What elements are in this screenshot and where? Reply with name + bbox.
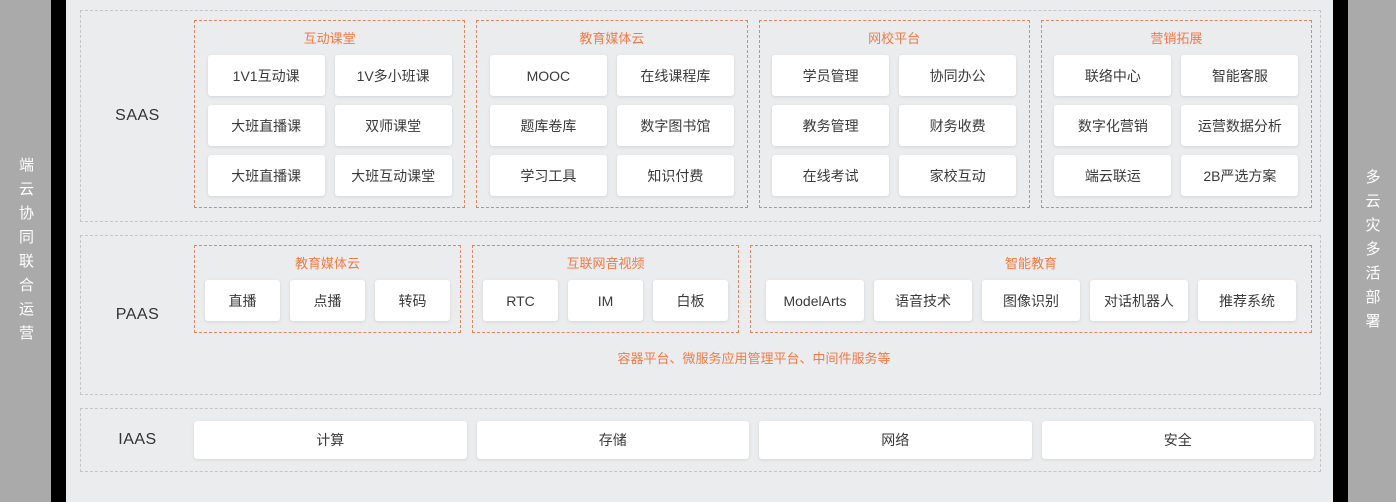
tile[interactable]: 直播 bbox=[205, 280, 280, 321]
tile[interactable]: 学员管理 bbox=[772, 55, 889, 96]
tile[interactable]: 计算 bbox=[194, 421, 467, 459]
right-rail: 多云灾多活部署 bbox=[1348, 0, 1396, 502]
right-rail-label: 多云灾多活部署 bbox=[1365, 165, 1380, 337]
paas-footer-note: 容器平台、微服务应用管理平台、中间件服务等 bbox=[194, 335, 1320, 373]
tile[interactable]: 数字图书馆 bbox=[617, 105, 734, 146]
tile[interactable]: 网络 bbox=[759, 421, 1032, 459]
group-paas-0: 教育媒体云 直播 点播 转码 bbox=[194, 245, 461, 333]
layer-paas-label: PAAS bbox=[81, 236, 194, 394]
group-title: 教育媒体云 bbox=[295, 253, 360, 272]
left-rail-label: 端云协同联合运营 bbox=[18, 153, 33, 349]
tile[interactable]: 大班直播课 bbox=[208, 155, 325, 196]
group-tiles: 直播 点播 转码 bbox=[205, 280, 450, 321]
layer-paas: PAAS 教育媒体云 直播 点播 转码 互联网音视频 RTC bbox=[80, 235, 1321, 395]
layer-iaas: IAAS 计算 存储 网络 安全 bbox=[80, 408, 1321, 472]
saas-group-row: 互动课堂 1V1互动课 1V多小班课 大班直播课 双师课堂 大班直播课 大班互动… bbox=[194, 11, 1320, 217]
tile[interactable]: 点播 bbox=[290, 280, 365, 321]
tile[interactable]: 家校互动 bbox=[899, 155, 1016, 196]
tile[interactable]: 2B严选方案 bbox=[1181, 155, 1298, 196]
layer-saas: SAAS 互动课堂 1V1互动课 1V多小班课 大班直播课 双师课堂 大班直播课… bbox=[80, 10, 1321, 222]
group-title: 教育媒体云 bbox=[579, 28, 644, 47]
tile[interactable]: 运营数据分析 bbox=[1181, 105, 1298, 146]
left-rail-divider bbox=[51, 0, 66, 502]
layer-saas-label: SAAS bbox=[81, 11, 194, 221]
tile[interactable]: 学习工具 bbox=[490, 155, 607, 196]
tile[interactable]: RTC bbox=[483, 280, 558, 321]
group-saas-3: 营销拓展 联络中心 智能客服 数字化营销 运营数据分析 端云联运 2B严选方案 bbox=[1041, 20, 1312, 208]
group-paas-1: 互联网音视频 RTC IM 白板 bbox=[472, 245, 739, 333]
tile[interactable]: 转码 bbox=[375, 280, 450, 321]
group-title: 互联网音视频 bbox=[566, 253, 644, 272]
tile[interactable]: 双师课堂 bbox=[335, 105, 452, 146]
group-title: 营销拓展 bbox=[1150, 28, 1202, 47]
tile[interactable]: 图像识别 bbox=[982, 280, 1080, 321]
tile[interactable]: 1V多小班课 bbox=[335, 55, 452, 96]
iaas-tiles: 计算 存储 网络 安全 bbox=[194, 409, 1320, 471]
left-rail: 端云协同联合运营 bbox=[0, 0, 51, 502]
tile[interactable]: 对话机器人 bbox=[1090, 280, 1188, 321]
tile[interactable]: 智能客服 bbox=[1181, 55, 1298, 96]
tile[interactable]: 联络中心 bbox=[1054, 55, 1171, 96]
right-rail-divider bbox=[1333, 0, 1348, 502]
tile[interactable]: MOOC bbox=[490, 55, 607, 96]
group-saas-0: 互动课堂 1V1互动课 1V多小班课 大班直播课 双师课堂 大班直播课 大班互动… bbox=[194, 20, 465, 208]
tile[interactable]: 大班互动课堂 bbox=[335, 155, 452, 196]
group-title: 智能教育 bbox=[1005, 253, 1057, 272]
tile[interactable]: 1V1互动课 bbox=[208, 55, 325, 96]
group-tiles: 学员管理 协同办公 教务管理 财务收费 在线考试 家校互动 bbox=[772, 55, 1016, 196]
tile[interactable]: 知识付费 bbox=[617, 155, 734, 196]
group-tiles: 1V1互动课 1V多小班课 大班直播课 双师课堂 大班直播课 大班互动课堂 bbox=[208, 55, 452, 196]
tile[interactable]: 语音技术 bbox=[874, 280, 972, 321]
layer-paas-body: 教育媒体云 直播 点播 转码 互联网音视频 RTC IM 白板 bbox=[194, 236, 1320, 394]
group-title: 网校平台 bbox=[868, 28, 920, 47]
group-tiles: MOOC 在线课程库 题库卷库 数字图书馆 学习工具 知识付费 bbox=[490, 55, 734, 196]
tile[interactable]: 财务收费 bbox=[899, 105, 1016, 146]
tile[interactable]: 推荐系统 bbox=[1198, 280, 1296, 321]
group-title: 互动课堂 bbox=[304, 28, 356, 47]
group-saas-2: 网校平台 学员管理 协同办公 教务管理 财务收费 在线考试 家校互动 bbox=[759, 20, 1030, 208]
tile[interactable]: 白板 bbox=[653, 280, 728, 321]
layers-canvas: SAAS 互动课堂 1V1互动课 1V多小班课 大班直播课 双师课堂 大班直播课… bbox=[66, 0, 1333, 502]
layer-saas-body: 互动课堂 1V1互动课 1V多小班课 大班直播课 双师课堂 大班直播课 大班互动… bbox=[194, 11, 1320, 221]
group-tiles: ModelArts 语音技术 图像识别 对话机器人 推荐系统 bbox=[766, 280, 1296, 321]
group-tiles: RTC IM 白板 bbox=[483, 280, 728, 321]
tile[interactable]: 教务管理 bbox=[772, 105, 889, 146]
paas-group-row: 教育媒体云 直播 点播 转码 互联网音视频 RTC IM 白板 bbox=[194, 236, 1320, 335]
tile[interactable]: 题库卷库 bbox=[490, 105, 607, 146]
tile[interactable]: 数字化营销 bbox=[1054, 105, 1171, 146]
tile[interactable]: 存储 bbox=[477, 421, 750, 459]
tile[interactable]: 安全 bbox=[1042, 421, 1315, 459]
group-paas-2: 智能教育 ModelArts 语音技术 图像识别 对话机器人 推荐系统 bbox=[750, 245, 1312, 333]
tile[interactable]: 大班直播课 bbox=[208, 105, 325, 146]
group-tiles: 联络中心 智能客服 数字化营销 运营数据分析 端云联运 2B严选方案 bbox=[1054, 55, 1298, 196]
tile[interactable]: 协同办公 bbox=[899, 55, 1016, 96]
architecture-diagram: 端云协同联合运营 SAAS 互动课堂 1V1互动课 1V多小班课 大班直播课 双… bbox=[0, 0, 1396, 502]
tile[interactable]: IM bbox=[568, 280, 643, 321]
tile[interactable]: 在线考试 bbox=[772, 155, 889, 196]
tile[interactable]: 端云联运 bbox=[1054, 155, 1171, 196]
group-saas-1: 教育媒体云 MOOC 在线课程库 题库卷库 数字图书馆 学习工具 知识付费 bbox=[476, 20, 747, 208]
tile[interactable]: 在线课程库 bbox=[617, 55, 734, 96]
layer-iaas-label: IAAS bbox=[81, 409, 194, 471]
tile[interactable]: ModelArts bbox=[766, 280, 864, 321]
